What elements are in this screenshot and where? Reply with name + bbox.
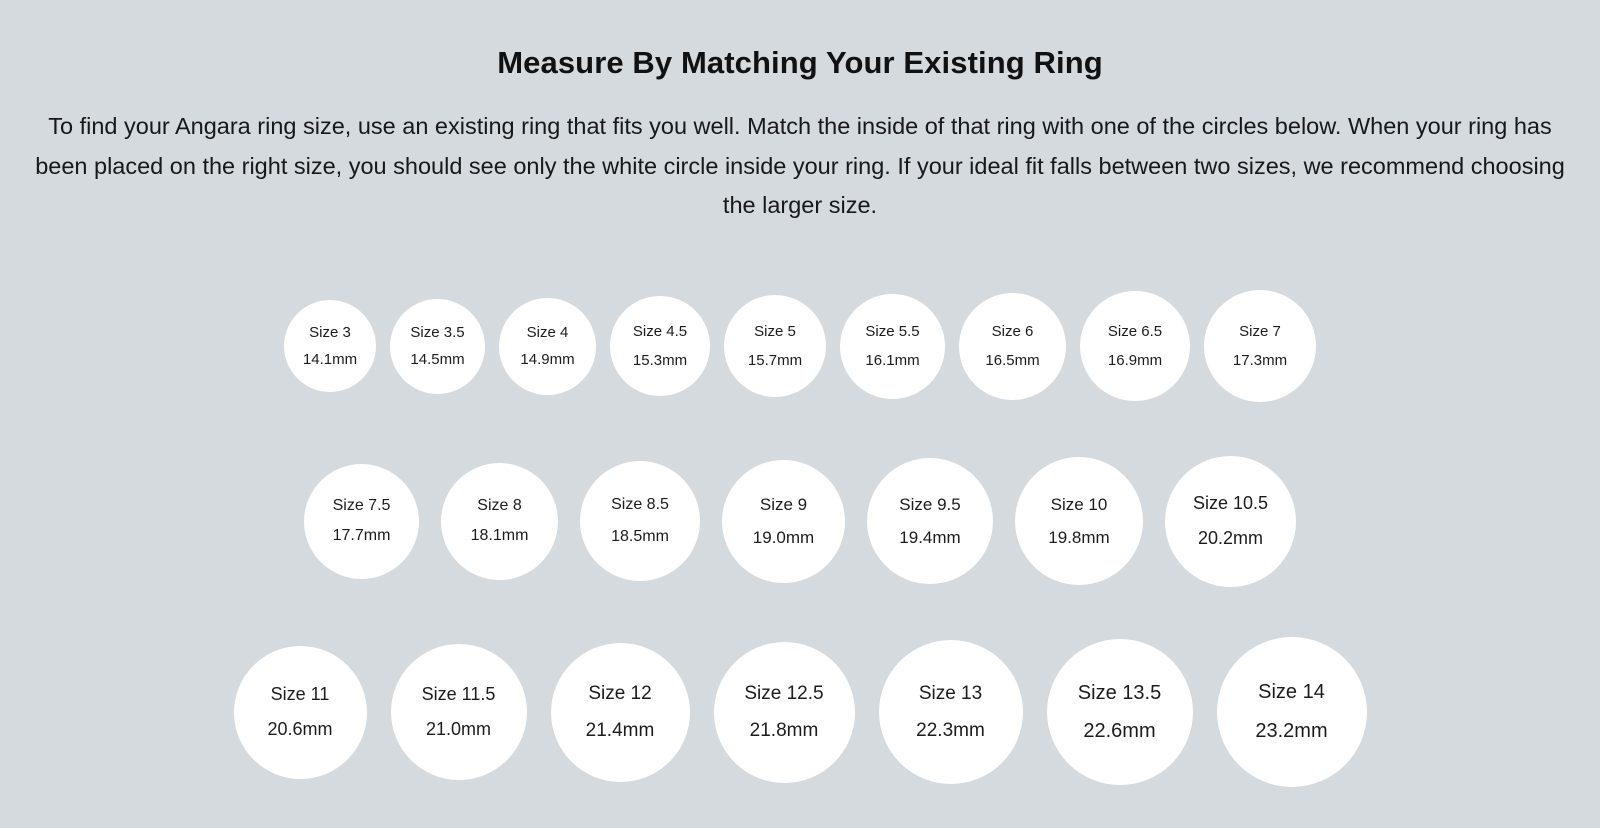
ring-size-circle[interactable]: Size 1423.2mm [1217, 637, 1367, 787]
ring-diameter-text: 14.9mm [520, 351, 574, 368]
ring-size-cell[interactable]: Size 12.521.8mm [714, 642, 855, 783]
ring-size-circle[interactable]: Size 616.5mm [959, 293, 1066, 400]
ring-size-text: Size 6 [992, 323, 1034, 340]
ring-diameter-text: 17.3mm [1233, 352, 1287, 369]
ring-size-cell[interactable]: Size 3.514.5mm [390, 299, 485, 394]
ring-size-cell[interactable]: Size 1019.8mm [1015, 457, 1143, 585]
ring-size-text: Size 9.5 [899, 495, 960, 515]
ring-size-circle[interactable]: Size 10.520.2mm [1165, 456, 1296, 587]
ring-diameter-text: 19.8mm [1048, 528, 1109, 548]
ring-size-cell[interactable]: Size 1120.6mm [234, 646, 367, 779]
ring-size-circle[interactable]: Size 717.3mm [1204, 290, 1316, 402]
ring-size-circle[interactable]: Size 1322.3mm [879, 640, 1023, 784]
ring-diameter-text: 22.3mm [916, 720, 985, 742]
ring-size-text: Size 14 [1258, 681, 1325, 704]
ring-size-cell[interactable]: Size 11.521.0mm [391, 644, 527, 780]
chart-header: Measure By Matching Your Existing Ring T… [0, 0, 1600, 226]
ring-size-chart-page: Measure By Matching Your Existing Ring T… [0, 0, 1600, 828]
ring-size-text: Size 7.5 [333, 497, 391, 515]
ring-diameter-text: 19.0mm [753, 528, 814, 548]
ring-size-cell[interactable]: Size 717.3mm [1204, 290, 1316, 402]
ring-size-text: Size 5 [754, 323, 796, 340]
intro-paragraph: To find your Angara ring size, use an ex… [35, 107, 1565, 225]
ring-diameter-text: 15.3mm [633, 352, 687, 369]
ring-size-circle[interactable]: Size 818.1mm [441, 463, 558, 580]
ring-size-text: Size 8.5 [611, 496, 669, 514]
ring-size-cell[interactable]: Size 818.1mm [441, 463, 558, 580]
ring-row-3: Size 1120.6mmSize 11.521.0mmSize 1221.4m… [0, 612, 1600, 812]
ring-row-2: Size 7.517.7mmSize 818.1mmSize 8.518.5mm… [0, 430, 1600, 612]
ring-size-text: Size 3 [309, 324, 351, 341]
ring-diameter-text: 18.1mm [471, 527, 529, 545]
ring-size-text: Size 13.5 [1078, 682, 1161, 705]
ring-size-cell[interactable]: Size 6.516.9mm [1080, 291, 1190, 401]
ring-size-text: Size 12 [588, 683, 651, 705]
ring-size-circle[interactable]: Size 314.1mm [284, 300, 376, 392]
ring-size-circle[interactable]: Size 7.517.7mm [304, 464, 419, 579]
ring-size-cell[interactable]: Size 1423.2mm [1217, 637, 1367, 787]
ring-size-cell[interactable]: Size 1322.3mm [879, 640, 1023, 784]
ring-size-circle[interactable]: Size 515.7mm [724, 295, 826, 397]
ring-size-cell[interactable]: Size 515.7mm [724, 295, 826, 397]
ring-size-circle[interactable]: Size 4.515.3mm [610, 296, 710, 396]
ring-size-text: Size 6.5 [1108, 323, 1162, 340]
ring-size-circle[interactable]: Size 6.516.9mm [1080, 291, 1190, 401]
ring-diameter-text: 16.5mm [985, 352, 1039, 369]
ring-size-cell[interactable]: Size 1221.4mm [551, 643, 690, 782]
ring-size-text: Size 4 [527, 324, 569, 341]
ring-size-text: Size 7 [1239, 323, 1281, 340]
ring-size-cell[interactable]: Size 414.9mm [499, 298, 596, 395]
ring-row-1: Size 314.1mmSize 3.514.5mmSize 414.9mmSi… [0, 262, 1600, 430]
ring-diameter-text: 18.5mm [611, 528, 669, 546]
ring-diameter-text: 15.7mm [748, 352, 802, 369]
ring-diameter-text: 19.4mm [899, 528, 960, 548]
ring-size-circle[interactable]: Size 1221.4mm [551, 643, 690, 782]
ring-size-text: Size 8 [477, 497, 521, 515]
ring-size-cell[interactable]: Size 10.520.2mm [1165, 456, 1296, 587]
ring-size-text: Size 10 [1051, 495, 1108, 515]
ring-diameter-text: 21.4mm [586, 720, 655, 742]
ring-size-text: Size 11 [271, 684, 330, 705]
ring-size-cell[interactable]: Size 9.519.4mm [867, 458, 993, 584]
ring-size-text: Size 12.5 [744, 683, 823, 705]
ring-diameter-text: 14.5mm [410, 351, 464, 368]
ring-size-circle[interactable]: Size 9.519.4mm [867, 458, 993, 584]
ring-diameter-text: 22.6mm [1083, 720, 1155, 743]
ring-size-circle[interactable]: Size 1120.6mm [234, 646, 367, 779]
ring-diameter-text: 16.1mm [865, 352, 919, 369]
ring-size-text: Size 13 [919, 683, 982, 705]
ring-diameter-text: 20.2mm [1198, 528, 1263, 549]
ring-size-cell[interactable]: Size 4.515.3mm [610, 296, 710, 396]
ring-size-text: Size 3.5 [410, 324, 464, 341]
ring-diameter-text: 21.8mm [750, 720, 819, 742]
ring-size-cell[interactable]: Size 919.0mm [722, 460, 845, 583]
ring-size-cell[interactable]: Size 7.517.7mm [304, 464, 419, 579]
ring-size-text: Size 5.5 [865, 323, 919, 340]
ring-size-circle[interactable]: Size 12.521.8mm [714, 642, 855, 783]
ring-diameter-text: 16.9mm [1108, 352, 1162, 369]
ring-size-cell[interactable]: Size 8.518.5mm [580, 461, 700, 581]
ring-size-text: Size 10.5 [1193, 493, 1268, 514]
ring-size-circle[interactable]: Size 11.521.0mm [391, 644, 527, 780]
ring-size-circle[interactable]: Size 13.522.6mm [1047, 639, 1193, 785]
ring-size-cell[interactable]: Size 314.1mm [284, 300, 376, 392]
ring-size-cell[interactable]: Size 5.516.1mm [840, 294, 945, 399]
ring-diameter-text: 14.1mm [303, 351, 357, 368]
ring-size-circle[interactable]: Size 1019.8mm [1015, 457, 1143, 585]
ring-size-cell[interactable]: Size 13.522.6mm [1047, 639, 1193, 785]
ring-size-circle[interactable]: Size 8.518.5mm [580, 461, 700, 581]
ring-size-text: Size 4.5 [633, 323, 687, 340]
ring-size-text: Size 9 [760, 495, 807, 515]
ring-diameter-text: 17.7mm [333, 527, 391, 545]
ring-size-text: Size 11.5 [422, 684, 496, 705]
ring-size-circle[interactable]: Size 5.516.1mm [840, 294, 945, 399]
ring-circle-rows: Size 314.1mmSize 3.514.5mmSize 414.9mmSi… [0, 262, 1600, 812]
ring-diameter-text: 23.2mm [1255, 720, 1327, 743]
ring-size-circle[interactable]: Size 3.514.5mm [390, 299, 485, 394]
ring-diameter-text: 21.0mm [426, 719, 491, 740]
ring-size-circle[interactable]: Size 414.9mm [499, 298, 596, 395]
page-title: Measure By Matching Your Existing Ring [0, 44, 1600, 81]
ring-size-cell[interactable]: Size 616.5mm [959, 293, 1066, 400]
ring-size-circle[interactable]: Size 919.0mm [722, 460, 845, 583]
ring-diameter-text: 20.6mm [267, 719, 332, 740]
